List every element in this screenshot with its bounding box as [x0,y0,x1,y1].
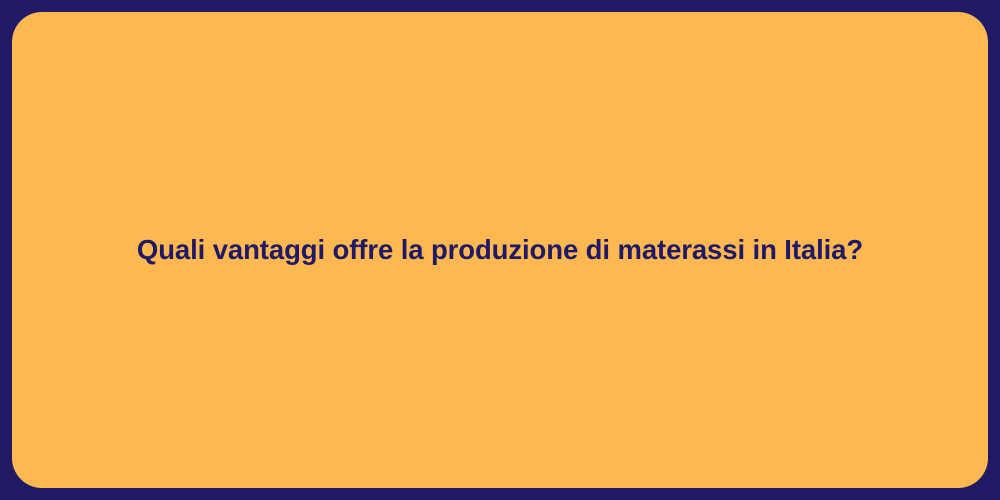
question-card: Quali vantaggi offre la produzione di ma… [12,12,988,488]
page-frame: Quali vantaggi offre la produzione di ma… [0,0,1000,500]
question-heading: Quali vantaggi offre la produzione di ma… [137,233,863,267]
